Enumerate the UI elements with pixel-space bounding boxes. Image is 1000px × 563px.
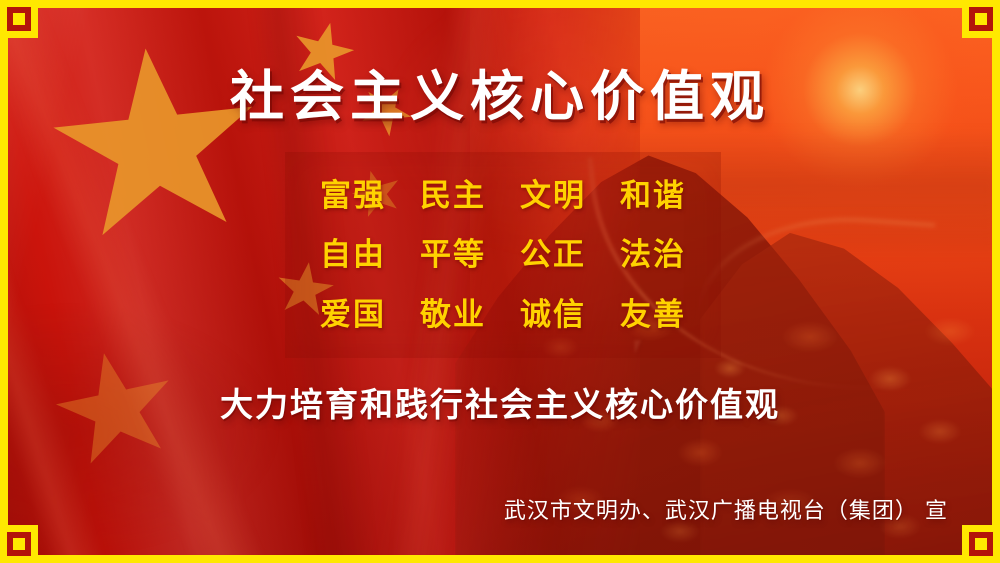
publisher-credit: 武汉市文明办、武汉广播电视台（集团） 宣	[504, 493, 948, 525]
value-word: 富强	[320, 180, 386, 211]
value-word: 自由	[320, 239, 386, 270]
poster-subtitle: 大力培育和践行社会主义核心价值观	[0, 378, 1000, 426]
value-word: 友善	[620, 299, 686, 330]
value-word: 和谐	[620, 180, 686, 211]
value-word: 敬业	[420, 299, 486, 330]
values-row: 富强 民主 文明 和谐	[285, 180, 721, 211]
value-word: 民主	[420, 180, 486, 211]
poster-content: 社会主义核心价值观 富强 民主 文明 和谐 自由 平等 公正 法治 爱国 敬业 …	[0, 0, 1000, 563]
value-word: 平等	[420, 239, 486, 270]
value-word: 诚信	[520, 299, 586, 330]
values-row: 爱国 敬业 诚信 友善	[285, 299, 721, 330]
value-word: 文明	[520, 180, 586, 211]
value-word: 法治	[620, 239, 686, 270]
propaganda-poster: 社会主义核心价值观 富强 民主 文明 和谐 自由 平等 公正 法治 爱国 敬业 …	[0, 0, 1000, 563]
core-values-list: 富强 民主 文明 和谐 自由 平等 公正 法治 爱国 敬业 诚信 友善	[285, 152, 721, 358]
values-row: 自由 平等 公正 法治	[285, 239, 721, 270]
value-word: 公正	[520, 239, 586, 270]
value-word: 爱国	[320, 299, 386, 330]
page-title: 社会主义核心价值观	[0, 68, 1000, 127]
